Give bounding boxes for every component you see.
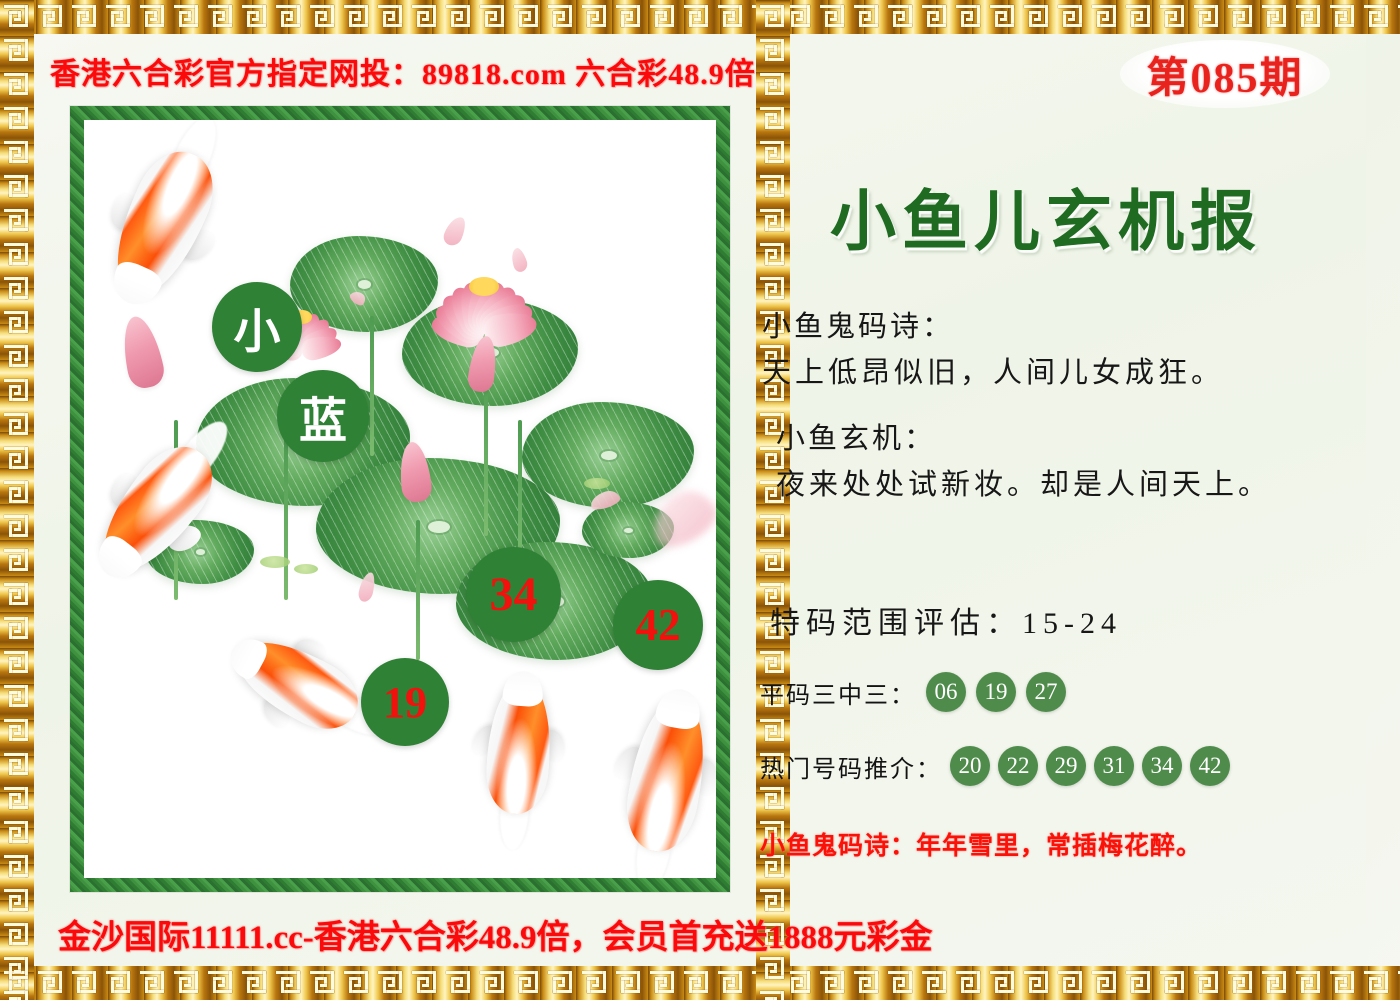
illustration-ball-19: 19 bbox=[361, 658, 449, 746]
greek-key-tile bbox=[0, 714, 34, 748]
greek-key-tile bbox=[1258, 966, 1292, 1000]
greek-key-tile bbox=[1088, 966, 1122, 1000]
greek-key-tile bbox=[756, 714, 790, 748]
greek-key-tile bbox=[756, 68, 790, 102]
illustration-ball-42: 42 bbox=[613, 580, 703, 670]
greek-key-tile bbox=[510, 0, 544, 34]
greek-key-tile bbox=[0, 442, 34, 476]
greek-key-tile bbox=[1020, 966, 1054, 1000]
greek-key-tile bbox=[510, 966, 544, 1000]
greek-key-tile bbox=[1020, 0, 1054, 34]
greek-key-tile bbox=[680, 0, 714, 34]
lotus-stem bbox=[370, 316, 374, 456]
greek-key-tile bbox=[476, 0, 510, 34]
lottery-ball: 20 bbox=[950, 746, 990, 786]
ghost-code-poem-line: 天上低昂似旧，人间儿女成狂。 bbox=[762, 350, 1224, 396]
greek-key-tile bbox=[0, 204, 34, 238]
mystic-hint-block: 小鱼玄机： 夜来处处试新妆。却是人间天上。 bbox=[776, 416, 1271, 508]
greek-key-tile bbox=[0, 544, 34, 578]
greek-key-tile bbox=[986, 0, 1020, 34]
greek-key-tile bbox=[68, 0, 102, 34]
greek-key-tile bbox=[306, 0, 340, 34]
greek-key-tile bbox=[884, 966, 918, 1000]
period-badge: 第085期 bbox=[1120, 40, 1330, 108]
greek-key-tile bbox=[0, 986, 34, 1000]
greek-key-tile bbox=[340, 0, 374, 34]
illustration-canvas: 小蓝344219 bbox=[84, 120, 716, 878]
greek-key-tile bbox=[0, 918, 34, 952]
greek-key-tile bbox=[204, 0, 238, 34]
greek-key-tile bbox=[756, 986, 790, 1000]
greek-key-tile bbox=[986, 966, 1020, 1000]
greek-key-tile bbox=[612, 966, 646, 1000]
ghost-code-poem-label: 小鱼鬼码诗： bbox=[762, 304, 1224, 350]
three-of-three-balls: 061927 bbox=[916, 672, 1066, 712]
greek-key-tile bbox=[0, 0, 34, 34]
three-of-three-row: 平码三中三： 061927 bbox=[760, 672, 1066, 712]
koi-fish-icon bbox=[619, 695, 714, 857]
greek-key-tile bbox=[0, 510, 34, 544]
greek-key-pattern-bottom bbox=[0, 966, 1400, 1000]
greek-key-tile bbox=[238, 0, 272, 34]
greek-key-tile bbox=[918, 966, 952, 1000]
greek-key-tile bbox=[714, 0, 748, 34]
greek-key-tile bbox=[136, 966, 170, 1000]
lottery-ball: 29 bbox=[1046, 746, 1086, 786]
greek-key-tile bbox=[0, 170, 34, 204]
illustration-frame: 小蓝344219 bbox=[70, 106, 730, 892]
greek-key-tile bbox=[272, 966, 306, 1000]
greek-key-tile bbox=[756, 782, 790, 816]
greek-key-tile bbox=[442, 966, 476, 1000]
koi-head bbox=[502, 670, 544, 707]
greek-key-tile bbox=[544, 966, 578, 1000]
greek-key-tile bbox=[884, 0, 918, 34]
greek-key-tile bbox=[756, 0, 790, 34]
three-of-three-label: 平码三中三： bbox=[760, 675, 916, 710]
greek-key-tile bbox=[0, 612, 34, 646]
greek-key-tile bbox=[0, 680, 34, 714]
greek-key-tile bbox=[0, 340, 34, 374]
special-range-row: 特码范围评估：15-24 bbox=[770, 598, 1122, 642]
lottery-ball: 06 bbox=[926, 672, 966, 712]
greek-key-tile bbox=[1156, 0, 1190, 34]
greek-key-tile bbox=[1224, 0, 1258, 34]
top-promo-banner: 香港六合彩官方指定网投：89818.com 六合彩48.9倍 bbox=[50, 49, 756, 93]
mystic-hint-label: 小鱼玄机： bbox=[776, 416, 1271, 462]
illustration-ball-蓝: 蓝 bbox=[277, 370, 369, 462]
greek-key-tile bbox=[1326, 0, 1360, 34]
greek-key-tile bbox=[0, 238, 34, 272]
greek-key-tile bbox=[408, 966, 442, 1000]
greek-key-tile bbox=[714, 966, 748, 1000]
greek-key-tile bbox=[0, 34, 34, 68]
greek-key-tile bbox=[0, 306, 34, 340]
period-badge-label: 第085期 bbox=[1146, 44, 1303, 105]
illustration-ball-34: 34 bbox=[466, 547, 561, 642]
greek-key-tile bbox=[680, 966, 714, 1000]
greek-key-tile bbox=[0, 374, 34, 408]
greek-key-tile bbox=[68, 966, 102, 1000]
poster-root: 香港六合彩官方指定网投：89818.com 六合彩48.9倍 第085期 bbox=[0, 0, 1400, 1000]
lottery-ball: 31 bbox=[1094, 746, 1134, 786]
greek-key-tile bbox=[1224, 966, 1258, 1000]
greek-key-tile bbox=[102, 966, 136, 1000]
greek-key-tile bbox=[756, 272, 790, 306]
greek-key-tile bbox=[1292, 966, 1326, 1000]
greek-key-tile bbox=[476, 966, 510, 1000]
right-content-column: 小鱼儿玄机报 小鱼鬼码诗： 天上低昂似旧，人间儿女成狂。 小鱼玄机： 夜来处处试… bbox=[756, 110, 1336, 264]
greek-key-tile bbox=[408, 0, 442, 34]
lottery-ball: 27 bbox=[1026, 672, 1066, 712]
greek-key-tile bbox=[646, 0, 680, 34]
greek-key-tile bbox=[0, 816, 34, 850]
greek-key-tile bbox=[1054, 0, 1088, 34]
lottery-ball: 22 bbox=[998, 746, 1038, 786]
greek-key-tile bbox=[0, 748, 34, 782]
lotus-stem bbox=[416, 520, 420, 660]
hot-numbers-row: 热门号码推介： 202229313442 bbox=[760, 746, 1230, 786]
greek-key-tile bbox=[756, 510, 790, 544]
greek-key-tile bbox=[544, 0, 578, 34]
greek-key-tile bbox=[1190, 0, 1224, 34]
greek-key-tile bbox=[374, 0, 408, 34]
greek-key-tile bbox=[850, 0, 884, 34]
greek-key-tile bbox=[952, 0, 986, 34]
lotus-bud-icon bbox=[117, 313, 167, 391]
greek-key-tile bbox=[238, 966, 272, 1000]
greek-key-tile bbox=[0, 952, 34, 986]
koi-fish-icon bbox=[226, 626, 369, 743]
greek-key-tile bbox=[34, 0, 68, 34]
greek-key-tile bbox=[816, 0, 850, 34]
greek-key-tile bbox=[612, 0, 646, 34]
greek-key-tile bbox=[0, 102, 34, 136]
greek-key-tile bbox=[204, 966, 238, 1000]
greek-key-tile bbox=[0, 272, 34, 306]
bottom-promo-banner: 金沙国际11111.cc-香港六合彩48.9倍，会员首充送1888元彩金 bbox=[58, 910, 933, 958]
greek-key-pattern-top bbox=[0, 0, 1400, 34]
page-title: 小鱼儿玄机报 bbox=[756, 168, 1336, 264]
hot-numbers-balls: 202229313442 bbox=[942, 746, 1230, 786]
greek-key-tile bbox=[1292, 0, 1326, 34]
greek-key-tile bbox=[1122, 0, 1156, 34]
greek-key-tile bbox=[0, 476, 34, 510]
greek-key-tile bbox=[1360, 966, 1394, 1000]
greek-key-tile bbox=[1088, 0, 1122, 34]
greek-key-tile bbox=[102, 0, 136, 34]
greek-key-tile bbox=[850, 966, 884, 1000]
greek-key-tile bbox=[1394, 966, 1400, 1000]
falling-petal-icon bbox=[441, 214, 469, 249]
greek-key-tile bbox=[0, 578, 34, 612]
greek-key-tile bbox=[578, 966, 612, 1000]
greek-key-pattern-left bbox=[0, 0, 34, 1000]
greek-key-tile bbox=[374, 966, 408, 1000]
small-lily-pad-icon bbox=[260, 556, 290, 568]
greek-key-tile bbox=[136, 0, 170, 34]
greek-key-tile bbox=[1360, 0, 1394, 34]
greek-key-tile bbox=[170, 0, 204, 34]
greek-key-tile bbox=[0, 136, 34, 170]
greek-key-tile bbox=[170, 966, 204, 1000]
special-range-value: 15-24 bbox=[1022, 607, 1122, 640]
greek-key-tile bbox=[306, 966, 340, 1000]
greek-key-tile bbox=[578, 0, 612, 34]
greek-key-tile bbox=[918, 0, 952, 34]
greek-key-tile bbox=[756, 34, 790, 68]
greek-key-tile bbox=[340, 966, 374, 1000]
greek-key-tile bbox=[0, 884, 34, 918]
greek-key-tile bbox=[0, 68, 34, 102]
red-footer-poem: 小鱼鬼码诗：年年雪里，常插梅花醉。 bbox=[760, 826, 1202, 862]
greek-key-tile bbox=[442, 0, 476, 34]
hot-numbers-label: 热门号码推介： bbox=[760, 749, 942, 784]
greek-key-tile bbox=[1156, 966, 1190, 1000]
greek-key-tile bbox=[1258, 0, 1292, 34]
greek-key-tile bbox=[0, 646, 34, 680]
greek-key-tile bbox=[816, 966, 850, 1000]
greek-key-tile bbox=[1054, 966, 1088, 1000]
greek-key-tile bbox=[952, 966, 986, 1000]
greek-key-tile bbox=[272, 0, 306, 34]
koi-fish-icon bbox=[99, 139, 228, 306]
greek-key-tile bbox=[0, 850, 34, 884]
lottery-ball: 42 bbox=[1190, 746, 1230, 786]
illustration-ball-小: 小 bbox=[212, 282, 302, 372]
lottery-ball: 19 bbox=[976, 672, 1016, 712]
small-lily-pad-icon bbox=[294, 564, 318, 574]
greek-key-tile bbox=[0, 408, 34, 442]
greek-key-tile bbox=[756, 544, 790, 578]
greek-key-tile bbox=[1394, 0, 1400, 34]
greek-key-tile bbox=[646, 966, 680, 1000]
greek-key-tile bbox=[1122, 966, 1156, 1000]
koi-fish-icon bbox=[483, 680, 554, 816]
small-lily-pad-icon bbox=[584, 478, 610, 489]
special-range-label: 特码范围评估： bbox=[770, 607, 1022, 640]
greek-key-tile bbox=[0, 782, 34, 816]
greek-key-tile bbox=[1326, 966, 1360, 1000]
greek-key-tile bbox=[34, 966, 68, 1000]
lottery-ball: 34 bbox=[1142, 746, 1182, 786]
mystic-hint-line: 夜来处处试新妆。却是人间天上。 bbox=[776, 462, 1271, 508]
ghost-code-poem-block: 小鱼鬼码诗： 天上低昂似旧，人间儿女成狂。 bbox=[762, 304, 1224, 396]
lotus-stem bbox=[284, 436, 288, 600]
greek-key-tile bbox=[1190, 966, 1224, 1000]
